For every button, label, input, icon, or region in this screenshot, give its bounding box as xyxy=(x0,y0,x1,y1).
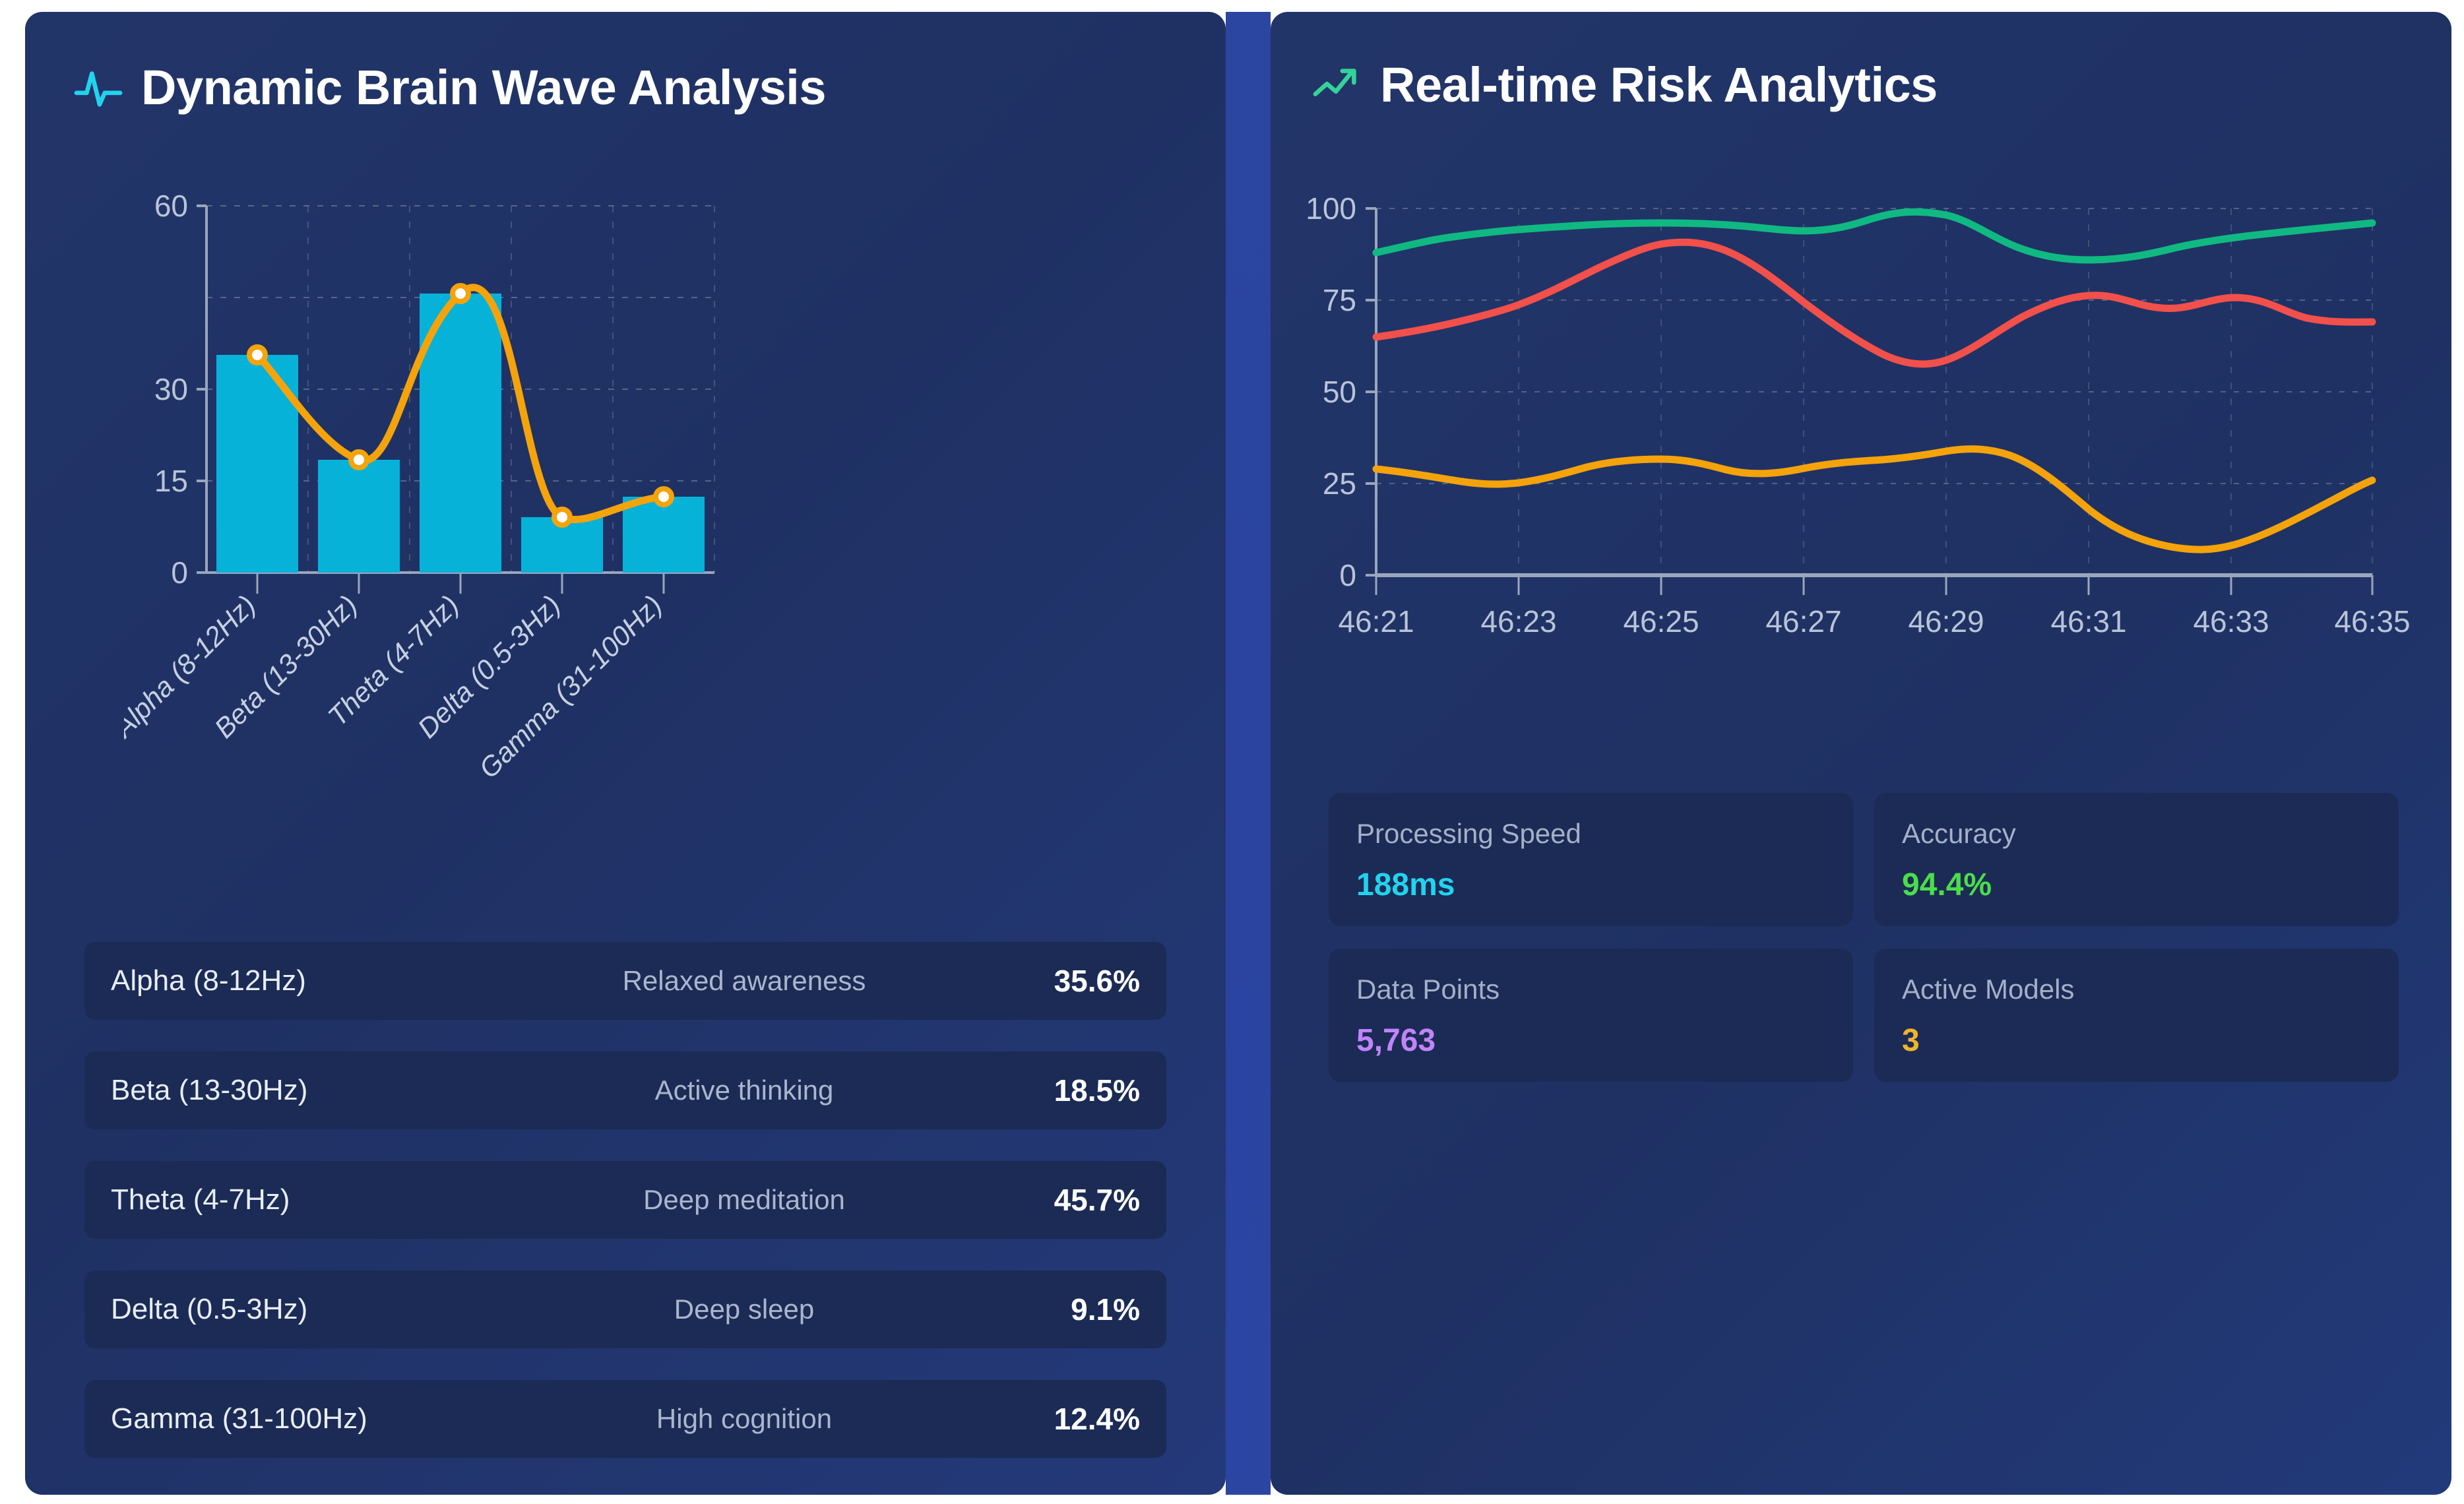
wave-name: Beta (13-30Hz) xyxy=(111,1074,520,1107)
svg-text:60: 60 xyxy=(154,190,188,223)
bar-beta xyxy=(318,460,400,573)
svg-text:15: 15 xyxy=(154,464,188,498)
line-series-risk xyxy=(1376,242,2372,364)
risk-analytics-panel-header: Real-time Risk Analytics xyxy=(1311,57,1938,113)
svg-text:46:29: 46:29 xyxy=(1908,604,1984,639)
brain-wave-panel-header: Dynamic Brain Wave Analysis xyxy=(73,59,826,115)
metric-label: Accuracy xyxy=(1902,818,2371,850)
brain-wave-bar-chart: 60 30 15 0 xyxy=(124,190,1193,863)
wave-name: Alpha (8-12Hz) xyxy=(111,964,520,997)
metric-card-active-models[interactable]: Active Models 3 xyxy=(1874,949,2399,1082)
wave-value: 45.7% xyxy=(968,1182,1140,1218)
wave-name: Gamma (31-100Hz) xyxy=(111,1402,520,1435)
wave-description: Active thinking xyxy=(520,1075,968,1106)
bar-chart-y-ticklabels: 60 30 15 0 xyxy=(154,190,188,590)
metric-card-data-points[interactable]: Data Points 5,763 xyxy=(1329,949,1853,1082)
dashboard-root: Dynamic Brain Wave Analysis xyxy=(0,0,2464,1504)
wave-value: 18.5% xyxy=(968,1073,1140,1108)
svg-text:46:33: 46:33 xyxy=(2193,604,2269,639)
metric-cards: Processing Speed 188ms Accuracy 94.4% Da… xyxy=(1329,793,2399,1082)
svg-text:0: 0 xyxy=(1339,558,1356,592)
svg-text:100: 100 xyxy=(1306,197,1356,226)
line-series-load xyxy=(1376,449,2372,549)
table-row[interactable]: Beta (13-30Hz) Active thinking 18.5% xyxy=(84,1051,1166,1129)
metric-card-accuracy[interactable]: Accuracy 94.4% xyxy=(1874,793,2399,926)
svg-text:46:25: 46:25 xyxy=(1623,604,1699,639)
wave-value: 35.6% xyxy=(968,963,1140,999)
metric-value: 5,763 xyxy=(1356,1022,1825,1059)
metric-value: 188ms xyxy=(1356,867,1825,903)
bar-chart-x-ticklabels: Alpha (8-12Hz) Beta (13-30Hz) Theta (4-7… xyxy=(124,589,668,784)
table-row[interactable]: Alpha (8-12Hz) Relaxed awareness 35.6% xyxy=(84,942,1166,1020)
brain-wave-panel: Dynamic Brain Wave Analysis xyxy=(25,12,1226,1495)
line-chart-axes xyxy=(1366,208,2372,595)
svg-text:46:35: 46:35 xyxy=(2334,604,2410,639)
wave-description: Deep sleep xyxy=(520,1294,968,1325)
wave-name: Theta (4-7Hz) xyxy=(111,1183,520,1216)
table-row[interactable]: Theta (4-7Hz) Deep meditation 45.7% xyxy=(84,1161,1166,1239)
svg-text:46:21: 46:21 xyxy=(1338,604,1414,639)
table-row[interactable]: Gamma (31-100Hz) High cognition 12.4% xyxy=(84,1380,1166,1458)
wave-name: Delta (0.5-3Hz) xyxy=(111,1293,520,1326)
svg-text:75: 75 xyxy=(1323,283,1356,317)
pulse-wave-icon xyxy=(73,62,124,113)
svg-text:30: 30 xyxy=(154,372,188,406)
wave-description: High cognition xyxy=(520,1403,968,1435)
risk-analytics-panel: Real-time Risk Analytics xyxy=(1271,12,2451,1495)
table-row[interactable]: Delta (0.5-3Hz) Deep sleep 9.1% xyxy=(84,1270,1166,1348)
risk-line-chart: 100 75 50 25 0 46:21 46:23 46:25 46 xyxy=(1290,197,2451,737)
bar-chart-xlabel-gamma: Gamma (31-100Hz) xyxy=(473,589,668,784)
line-chart-y-ticklabels: 100 75 50 25 0 xyxy=(1306,197,1356,592)
svg-text:25: 25 xyxy=(1323,466,1356,501)
svg-text:0: 0 xyxy=(171,555,188,590)
bar-chart-bars xyxy=(216,294,705,573)
svg-text:46:23: 46:23 xyxy=(1480,604,1556,639)
line-chart-x-ticklabels: 46:21 46:23 46:25 46:27 46:29 46:31 46:3… xyxy=(1338,604,2410,639)
bar-gamma xyxy=(623,497,705,573)
wave-description: Relaxed awareness xyxy=(520,965,968,997)
metric-label: Data Points xyxy=(1356,974,1825,1005)
svg-text:50: 50 xyxy=(1323,375,1356,409)
metric-label: Active Models xyxy=(1902,974,2371,1005)
metric-value: 94.4% xyxy=(1902,867,2371,903)
wave-value: 12.4% xyxy=(968,1401,1140,1437)
metric-label: Processing Speed xyxy=(1356,818,1825,850)
line-series-stability xyxy=(1376,212,2372,260)
panel-divider xyxy=(1226,12,1271,1495)
svg-text:46:27: 46:27 xyxy=(1765,604,1841,639)
svg-text:46:31: 46:31 xyxy=(2050,604,2126,639)
page-title: Real-time Risk Analytics xyxy=(1380,57,1938,113)
page-title: Dynamic Brain Wave Analysis xyxy=(141,59,826,115)
wave-description: Deep meditation xyxy=(520,1184,968,1216)
wave-value: 9.1% xyxy=(968,1292,1140,1327)
metric-card-processing-speed[interactable]: Processing Speed 188ms xyxy=(1329,793,1853,926)
metric-value: 3 xyxy=(1902,1022,2371,1059)
brain-wave-table: Alpha (8-12Hz) Relaxed awareness 35.6% B… xyxy=(84,942,1166,1489)
trending-up-icon xyxy=(1311,59,1363,111)
